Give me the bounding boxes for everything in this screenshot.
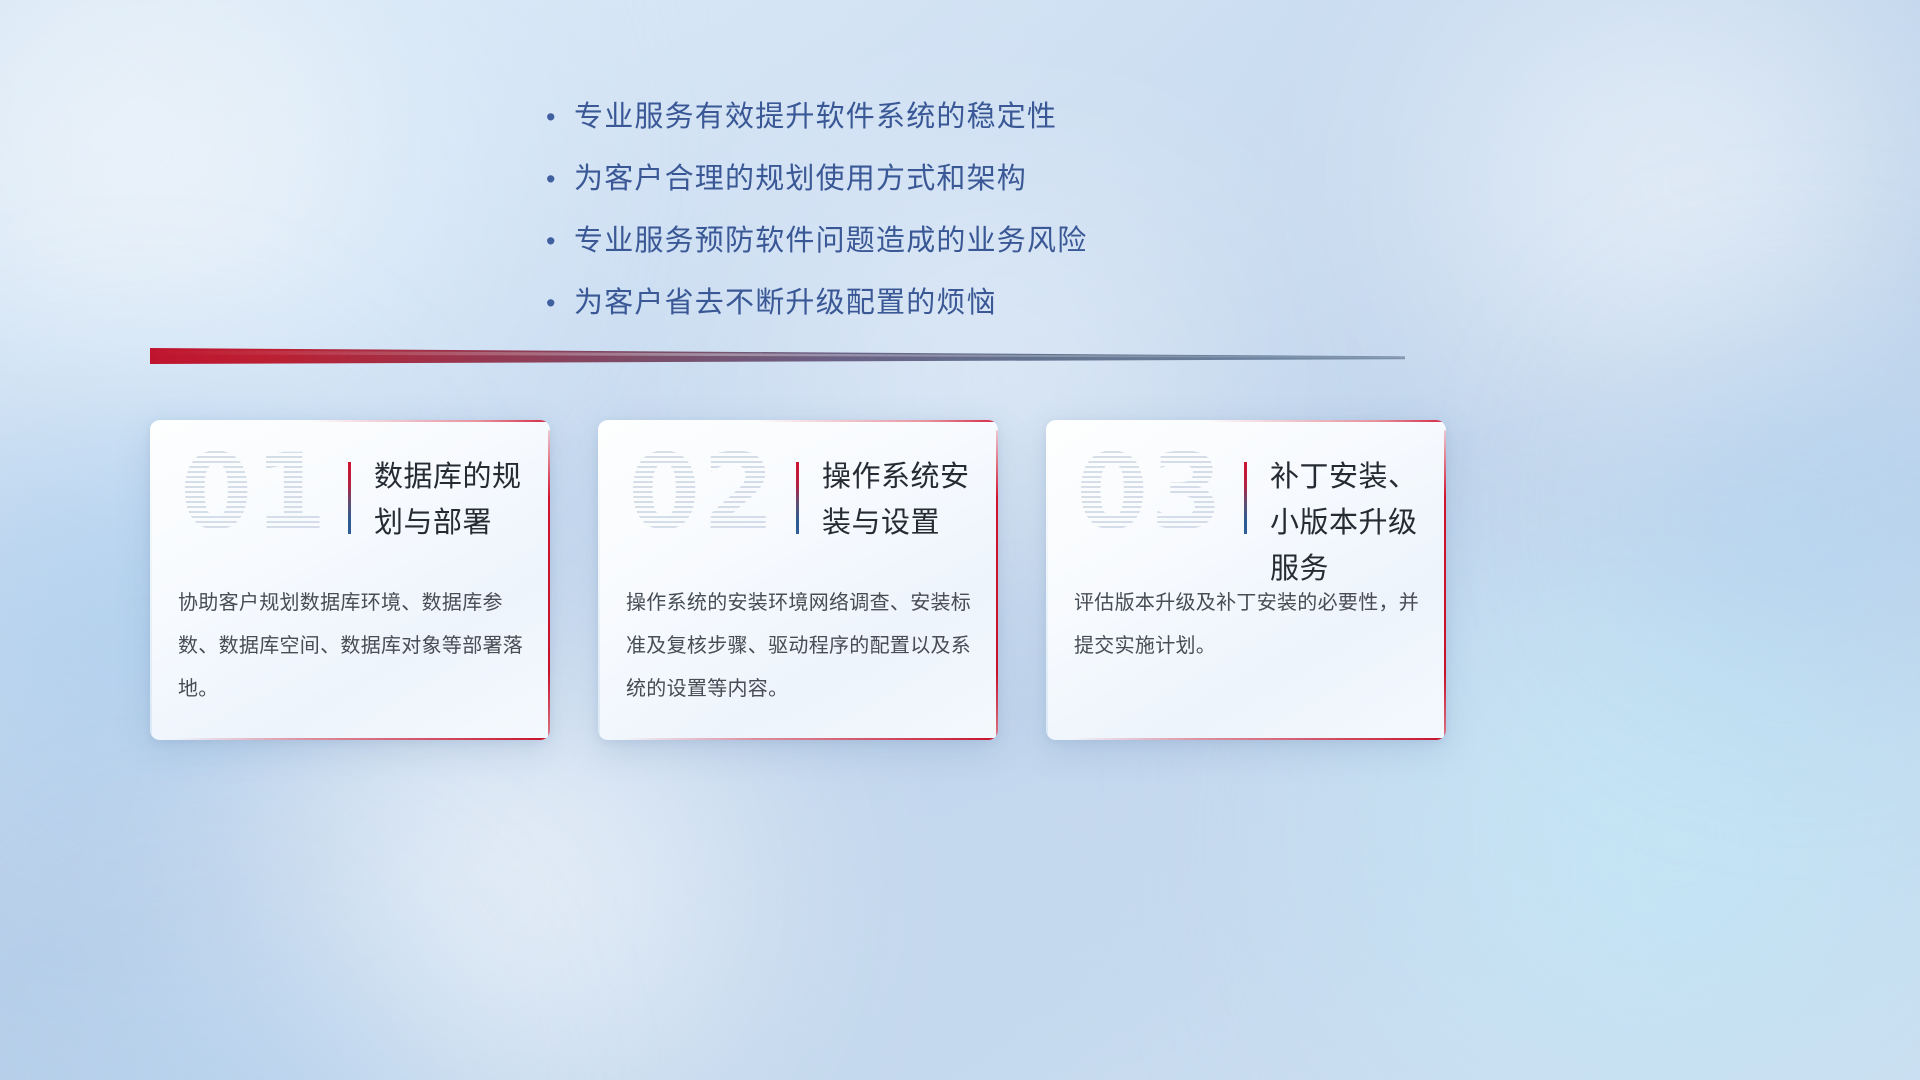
list-item: • 为客户合理的规划使用方式和架构	[540, 148, 1240, 210]
card-header: 02 操作系统安装与设置	[598, 420, 998, 570]
card-title: 补丁安装、小版本升级服务	[1270, 454, 1440, 592]
card-accent-bottom	[624, 738, 998, 741]
bullet-dot-icon: •	[540, 86, 574, 148]
bullet-text: 为客户省去不断升级配置的烦恼	[574, 272, 997, 334]
card-title-rule	[1244, 462, 1247, 534]
bullet-dot-icon: •	[540, 272, 574, 334]
card-title: 操作系统安装与设置	[822, 454, 992, 546]
card-header: 03 补丁安装、小版本升级服务	[1046, 420, 1446, 570]
service-card-group: 01 数据库的规划与部署 协助客户规划数据库环境、数据库参数、数据库空间、数据库…	[150, 420, 1446, 740]
benefits-bullet-list: • 专业服务有效提升软件系统的稳定性 • 为客户合理的规划使用方式和架构 • 专…	[540, 86, 1240, 334]
list-item: • 为客户省去不断升级配置的烦恼	[540, 272, 1240, 334]
card-body-text: 操作系统的安装环境网络调查、安装标准及复核步骤、驱动程序的配置以及系统的设置等内…	[626, 582, 974, 711]
bullet-text: 专业服务预防软件问题造成的业务风险	[574, 210, 1087, 272]
card-number-decoration: 01	[180, 436, 329, 548]
card-title-rule	[348, 462, 351, 534]
service-card-01[interactable]: 01 数据库的规划与部署 协助客户规划数据库环境、数据库参数、数据库空间、数据库…	[150, 420, 550, 740]
card-accent-bottom	[176, 738, 550, 741]
card-body-text: 评估版本升级及补丁安装的必要性，并提交实施计划。	[1074, 582, 1422, 668]
list-item: • 专业服务预防软件问题造成的业务风险	[540, 210, 1240, 272]
slide-root: • 专业服务有效提升软件系统的稳定性 • 为客户合理的规划使用方式和架构 • 专…	[0, 0, 1920, 1080]
card-body-text: 协助客户规划数据库环境、数据库参数、数据库空间、数据库对象等部署落地。	[178, 582, 526, 711]
bullet-text: 专业服务有效提升软件系统的稳定性	[574, 86, 1057, 148]
card-number-decoration: 03	[1076, 436, 1225, 548]
bullet-text: 为客户合理的规划使用方式和架构	[574, 148, 1027, 210]
service-card-02[interactable]: 02 操作系统安装与设置 操作系统的安装环境网络调查、安装标准及复核步骤、驱动程…	[598, 420, 998, 740]
card-header: 01 数据库的规划与部署	[150, 420, 550, 570]
list-item: • 专业服务有效提升软件系统的稳定性	[540, 86, 1240, 148]
service-card-03[interactable]: 03 补丁安装、小版本升级服务 评估版本升级及补丁安装的必要性，并提交实施计划。	[1046, 420, 1446, 740]
card-title-rule	[796, 462, 799, 534]
card-accent-bottom	[1072, 738, 1446, 741]
bullet-dot-icon: •	[540, 210, 574, 272]
section-divider	[150, 348, 1405, 364]
bullet-dot-icon: •	[540, 148, 574, 210]
card-number-decoration: 02	[628, 436, 777, 548]
card-title: 数据库的规划与部署	[374, 454, 544, 546]
